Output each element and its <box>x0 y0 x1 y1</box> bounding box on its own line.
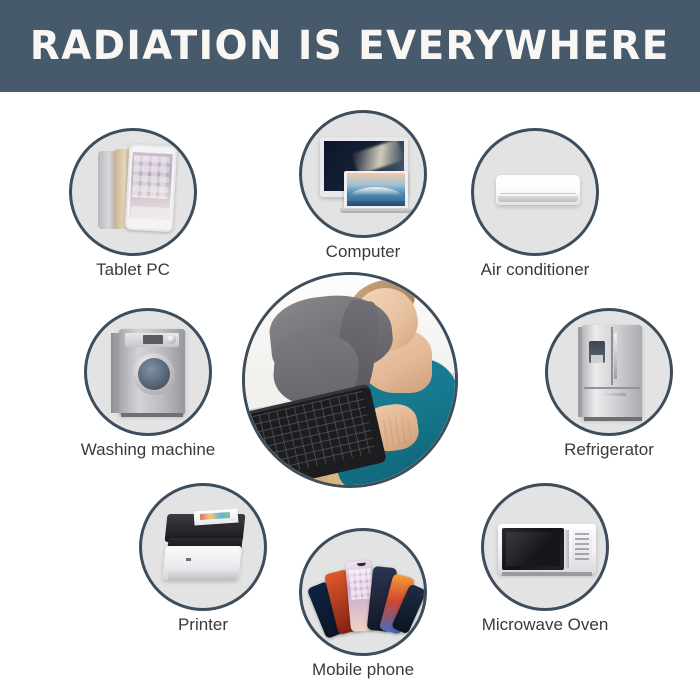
node-label-tablet-pc: Tablet PC <box>58 261 208 280</box>
node-air-conditioner[interactable]: Air conditioner <box>460 128 610 280</box>
center-photo-node <box>242 272 458 488</box>
washer-drum-window-icon <box>138 358 170 390</box>
fridge-freezer-seam-icon <box>584 387 640 389</box>
node-washing-machine[interactable]: Washing machine <box>73 308 223 460</box>
microwave-buttons-icon <box>575 533 589 563</box>
center-photo-circle <box>242 272 458 488</box>
printer-paper-tray-icon <box>167 570 238 580</box>
tablet-dock-icon <box>131 206 172 220</box>
circle-air-conditioner <box>471 128 599 256</box>
washer-knob-icon <box>167 335 176 344</box>
node-refrigerator[interactable]: Refrigerator <box>534 308 684 460</box>
fridge-base-icon <box>584 417 642 421</box>
microwave-base-icon <box>502 572 592 576</box>
page-title: RADIATION IS EVERYWHERE <box>30 26 670 66</box>
header-banner: RADIATION IS EVERYWHERE <box>0 0 700 92</box>
node-label-refrigerator: Refrigerator <box>534 441 684 460</box>
laptop-base-icon <box>340 208 412 213</box>
circle-tablet-pc <box>69 128 197 256</box>
fridge-handle-bottom-icon <box>596 393 626 396</box>
ac-seam-icon <box>500 193 576 194</box>
washer-base-icon <box>121 413 183 417</box>
fridge-dispenser-tray-icon <box>591 355 603 363</box>
fridge-handle-top-icon <box>614 333 617 379</box>
circle-refrigerator <box>545 308 673 436</box>
node-label-computer: Computer <box>288 243 438 262</box>
tablet-app-icons-icon <box>132 155 170 199</box>
circle-computer <box>299 110 427 238</box>
node-computer[interactable]: Computer <box>288 110 438 262</box>
node-label-air-conditioner: Air conditioner <box>460 261 610 280</box>
circle-mobile-phone <box>299 528 427 656</box>
node-microwave-oven[interactable]: Microwave Oven <box>470 483 620 635</box>
node-label-microwave-oven: Microwave Oven <box>470 616 620 635</box>
circle-washing-machine <box>84 308 212 436</box>
circle-microwave-oven <box>481 483 609 611</box>
node-label-mobile-phone: Mobile phone <box>288 661 438 680</box>
node-tablet-pc[interactable]: Tablet PC <box>58 128 208 280</box>
node-mobile-phone[interactable]: Mobile phone <box>288 528 438 680</box>
microwave-handle-icon <box>564 530 569 568</box>
microwave-glass-icon <box>506 532 560 566</box>
node-printer[interactable]: Printer <box>128 483 278 635</box>
washer-display-icon <box>143 335 163 344</box>
printer-indicator-icon <box>186 558 191 561</box>
radiation-infographic-poster: RADIATION IS EVERYWHERE Tablet PC Comput… <box>0 0 700 700</box>
node-label-washing-machine: Washing machine <box>73 441 223 460</box>
ac-vent-icon <box>498 196 578 202</box>
fridge-door-split-icon <box>611 327 613 385</box>
node-label-printer: Printer <box>128 616 278 635</box>
circle-printer <box>139 483 267 611</box>
